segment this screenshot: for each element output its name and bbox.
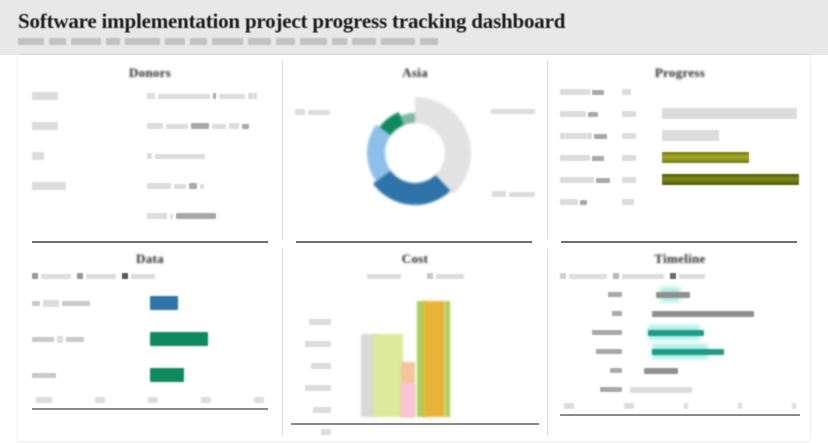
subtitle-word	[49, 38, 67, 45]
donut-legend-right-top	[491, 109, 535, 114]
progress-bar-fill	[662, 152, 749, 163]
redacted-text-block	[254, 397, 264, 403]
redacted-text-block	[212, 124, 226, 129]
redacted-text-block	[592, 330, 622, 335]
redacted-text-block	[213, 93, 216, 99]
progress-row-bar	[662, 125, 800, 147]
redacted-text-block	[612, 311, 622, 316]
timeline-axis-line	[560, 414, 800, 416]
subtitle-word	[420, 38, 438, 45]
timeline-bar-fill	[652, 349, 724, 355]
redacted-text-block	[158, 94, 210, 99]
timeline-row-bar	[622, 380, 800, 399]
panel-cost-title: Cost	[291, 251, 539, 267]
data-bar-fill	[150, 296, 178, 310]
redacted-text-block	[622, 177, 636, 183]
timeline-row-label	[560, 349, 622, 354]
redacted-text-block	[147, 93, 155, 99]
legend-entry	[122, 273, 155, 279]
progress-bar-fill	[662, 130, 719, 141]
progress-row-value	[622, 89, 662, 95]
redacted-text-block	[564, 403, 574, 409]
donors-row-value	[147, 93, 268, 99]
redacted-text-block	[321, 429, 331, 435]
progress-row	[560, 169, 800, 191]
donors-list	[32, 81, 268, 231]
dashboard-card: Donors Asia Progress Data Co	[18, 55, 810, 441]
progress-row-value	[622, 177, 662, 183]
subtitle-word	[190, 38, 206, 45]
progress-row	[560, 103, 800, 125]
donors-row-label	[32, 117, 147, 135]
redacted-text-block	[580, 200, 587, 205]
redacted-text-block	[95, 397, 105, 403]
data-row-bar	[150, 321, 268, 357]
page-title: Software implementation project progress…	[18, 9, 565, 34]
redacted-text-block	[596, 349, 622, 354]
redacted-text-block	[32, 152, 44, 160]
redacted-text-block	[305, 341, 331, 347]
redacted-text-block	[560, 111, 586, 117]
redacted-text-block	[560, 155, 590, 161]
redacted-text-block	[624, 403, 634, 409]
legend-swatch	[77, 273, 83, 279]
legend-entry	[560, 273, 607, 279]
redacted-text-block	[147, 123, 163, 129]
legend-entry	[613, 273, 664, 279]
page-subtitle-redacted	[18, 36, 438, 47]
cost-y-tick	[295, 421, 331, 443]
data-row-bar	[150, 285, 268, 321]
redacted-text-block	[569, 274, 607, 279]
donors-row-label	[32, 147, 147, 165]
timeline-row	[560, 380, 800, 399]
progress-row-label	[560, 199, 622, 205]
redacted-text-block	[174, 184, 186, 189]
redacted-text-block	[36, 397, 52, 403]
donors-row-label	[32, 87, 147, 105]
cost-y-tick	[295, 355, 331, 377]
cost-plot-area	[333, 285, 531, 417]
progress-row-label	[560, 177, 622, 183]
redacted-text-block	[622, 199, 634, 205]
subtitle-word	[248, 38, 271, 45]
timeline-bar-fill	[630, 387, 692, 393]
progress-row	[560, 191, 800, 213]
progress-bar-fill	[662, 174, 799, 185]
progress-row-value	[622, 133, 662, 139]
timeline-row	[560, 361, 800, 380]
progress-row-bar	[662, 169, 800, 191]
redacted-text-block	[170, 214, 173, 219]
timeline-row	[560, 342, 800, 361]
legend-swatch	[32, 273, 38, 279]
panel-timeline: Timeline	[548, 243, 810, 441]
data-bar-fill	[150, 332, 208, 346]
dashboard-header-band: Software implementation project progress…	[0, 0, 828, 55]
panel-asia-title: Asia	[291, 65, 539, 81]
progress-row-value	[622, 199, 662, 205]
legend-entry	[32, 273, 71, 279]
redacted-text-block	[592, 90, 604, 95]
donut-chart	[340, 85, 490, 225]
redacted-text-block	[32, 92, 58, 100]
cost-y-tick	[295, 377, 331, 399]
redacted-text-block	[622, 133, 636, 139]
data-legend	[32, 267, 268, 285]
panel-asia-donut: Asia	[283, 55, 547, 241]
redacted-text-block	[436, 274, 464, 279]
timeline-axis-ticks	[560, 399, 800, 413]
redacted-text-block	[86, 274, 116, 279]
subtitle-word	[212, 38, 243, 45]
redacted-text-block	[592, 156, 604, 161]
data-bar-rows	[32, 285, 268, 393]
timeline-row-bar	[622, 285, 800, 304]
subtitle-word	[165, 38, 185, 45]
panel-progress: Progress	[548, 55, 810, 241]
redacted-text-block	[311, 363, 331, 369]
redacted-text-block	[32, 301, 40, 306]
timeline-row	[560, 285, 800, 304]
redacted-text-block	[166, 124, 188, 129]
donors-row-value	[147, 153, 268, 159]
progress-row-value	[622, 111, 662, 117]
progress-row	[560, 147, 800, 169]
redacted-text-block	[560, 177, 594, 183]
donors-row-label	[32, 177, 147, 195]
redacted-text-block	[594, 134, 607, 139]
donut-legend-right-bottom	[492, 191, 535, 197]
data-row-label	[32, 373, 150, 378]
timeline-row-bar	[622, 342, 800, 361]
redacted-text-block	[148, 397, 158, 403]
timeline-row	[560, 323, 800, 342]
cost-y-tick	[295, 311, 331, 333]
panel-progress-title: Progress	[560, 65, 800, 81]
redacted-text-block	[147, 153, 152, 159]
timeline-row-label	[560, 387, 622, 392]
cost-y-tick	[295, 333, 331, 355]
redacted-text-block	[622, 155, 636, 161]
panel-data: Data	[18, 243, 282, 441]
redacted-text-block	[147, 183, 171, 189]
cost-bar-gold	[423, 301, 445, 417]
redacted-text-block	[679, 274, 705, 279]
donors-row-value	[147, 123, 268, 129]
progress-row-label	[560, 133, 622, 139]
panel-cost: Cost	[283, 243, 547, 441]
legend-swatch	[122, 273, 128, 279]
timeline-row-bar	[622, 361, 800, 380]
redacted-text-block	[588, 112, 598, 117]
redacted-text-block	[560, 89, 590, 95]
redacted-text-block	[610, 368, 622, 373]
redacted-text-block	[248, 93, 257, 99]
redacted-text-block	[622, 89, 631, 95]
redacted-text-block	[684, 403, 688, 409]
donors-row-value	[147, 183, 268, 189]
donors-row	[32, 111, 268, 141]
progress-row-bar	[662, 191, 800, 213]
redacted-text-block	[608, 292, 622, 297]
data-row-bar	[150, 357, 268, 393]
redacted-text-block	[176, 213, 216, 219]
redacted-text-block	[309, 319, 331, 325]
redacted-text-block	[155, 154, 205, 159]
redacted-text-block	[560, 133, 592, 139]
timeline-row-label	[560, 311, 622, 316]
subtitle-word	[71, 38, 101, 45]
redacted-text-block	[229, 123, 239, 129]
data-row	[32, 321, 268, 357]
redacted-text-block	[367, 274, 401, 279]
timeline-bar-fill	[648, 330, 704, 336]
legend-swatch	[613, 273, 619, 279]
donors-row	[32, 141, 268, 171]
data-row-label	[32, 336, 150, 343]
data-row	[32, 357, 268, 393]
subtitle-word	[106, 38, 120, 45]
redacted-text-block	[32, 122, 58, 130]
donut-segment-light-blue	[367, 125, 391, 181]
subtitle-word	[352, 38, 376, 45]
redacted-text-block	[201, 397, 211, 403]
redacted-text-block	[622, 111, 636, 117]
progress-list	[560, 81, 800, 213]
redacted-text-block	[313, 407, 331, 413]
cost-legend	[291, 267, 539, 285]
legend-entry	[427, 273, 464, 279]
redacted-text-block	[600, 387, 622, 392]
progress-row-label	[560, 89, 622, 95]
progress-row-bar	[662, 147, 800, 169]
progress-row-bar	[662, 81, 800, 103]
redacted-text-block	[62, 301, 90, 306]
redacted-text-block	[32, 182, 66, 190]
donors-row	[32, 171, 268, 201]
redacted-text-block	[305, 385, 331, 391]
redacted-text-block	[189, 183, 197, 189]
panel-donors: Donors	[18, 55, 282, 241]
timeline-bar-fill	[644, 368, 678, 374]
legend-swatch	[560, 273, 566, 279]
data-row	[32, 285, 268, 321]
progress-row-label	[560, 155, 622, 161]
subtitle-word	[125, 38, 160, 45]
redacted-text-block	[596, 178, 610, 183]
panel-data-title: Data	[32, 251, 268, 267]
redacted-text-block	[66, 337, 84, 342]
redacted-text-block	[792, 403, 796, 409]
data-axis-line	[32, 408, 268, 410]
redacted-text-block	[242, 124, 249, 129]
cost-bar-pink	[401, 383, 415, 417]
progress-row-label	[560, 111, 622, 117]
progress-row-value	[622, 155, 662, 161]
data-row-label	[32, 300, 150, 307]
redacted-text-block	[131, 274, 155, 279]
donors-row	[32, 201, 268, 231]
legend-entry	[367, 274, 401, 279]
cost-y-axis	[295, 311, 331, 443]
timeline-row-label	[560, 292, 622, 297]
progress-row	[560, 125, 800, 147]
subtitle-word	[18, 38, 44, 45]
redacted-text-block	[57, 336, 63, 343]
timeline-row-bar	[622, 323, 800, 342]
redacted-text-block	[560, 199, 578, 205]
cost-bar-actual	[373, 334, 403, 417]
donut-chart-area	[291, 81, 539, 231]
donors-row-value	[147, 213, 268, 219]
legend-swatch	[427, 273, 433, 279]
timeline-row-bar	[622, 304, 800, 323]
subtitle-word	[332, 38, 347, 45]
timeline-legend	[560, 267, 800, 285]
subtitle-word	[276, 38, 295, 45]
data-bar-fill	[150, 368, 184, 382]
progress-row	[560, 81, 800, 103]
redacted-text-block	[622, 274, 664, 279]
redacted-text-block	[738, 403, 742, 409]
progress-row-bar	[662, 103, 800, 125]
timeline-row	[560, 304, 800, 323]
redacted-text-block	[191, 123, 209, 129]
donut-legend-left-top	[295, 109, 330, 115]
redacted-text-block	[200, 184, 204, 189]
timeline-rows	[560, 285, 800, 399]
redacted-text-block	[43, 300, 59, 307]
redacted-text-block	[32, 373, 56, 378]
progress-bar-fill	[662, 108, 797, 119]
subtitle-word	[300, 38, 327, 45]
cost-y-tick	[295, 399, 331, 421]
subtitle-word	[381, 38, 415, 45]
timeline-bar-fill	[656, 292, 690, 298]
donors-row	[32, 81, 268, 111]
legend-swatch	[670, 273, 676, 279]
cost-bar-lime	[445, 301, 450, 417]
legend-entry	[77, 273, 116, 279]
donut-segment-grey	[415, 97, 471, 194]
panel-timeline-title: Timeline	[560, 251, 800, 267]
redacted-text-block	[32, 337, 54, 342]
timeline-row-label	[560, 330, 622, 335]
timeline-row-label	[560, 368, 622, 373]
redacted-text-block	[219, 94, 245, 99]
legend-entry	[670, 273, 705, 279]
redacted-text-block	[41, 274, 71, 279]
redacted-text-block	[147, 213, 167, 219]
panel-donors-title: Donors	[32, 65, 268, 81]
timeline-bar-fill	[652, 311, 754, 317]
data-axis-ticks	[32, 393, 268, 407]
